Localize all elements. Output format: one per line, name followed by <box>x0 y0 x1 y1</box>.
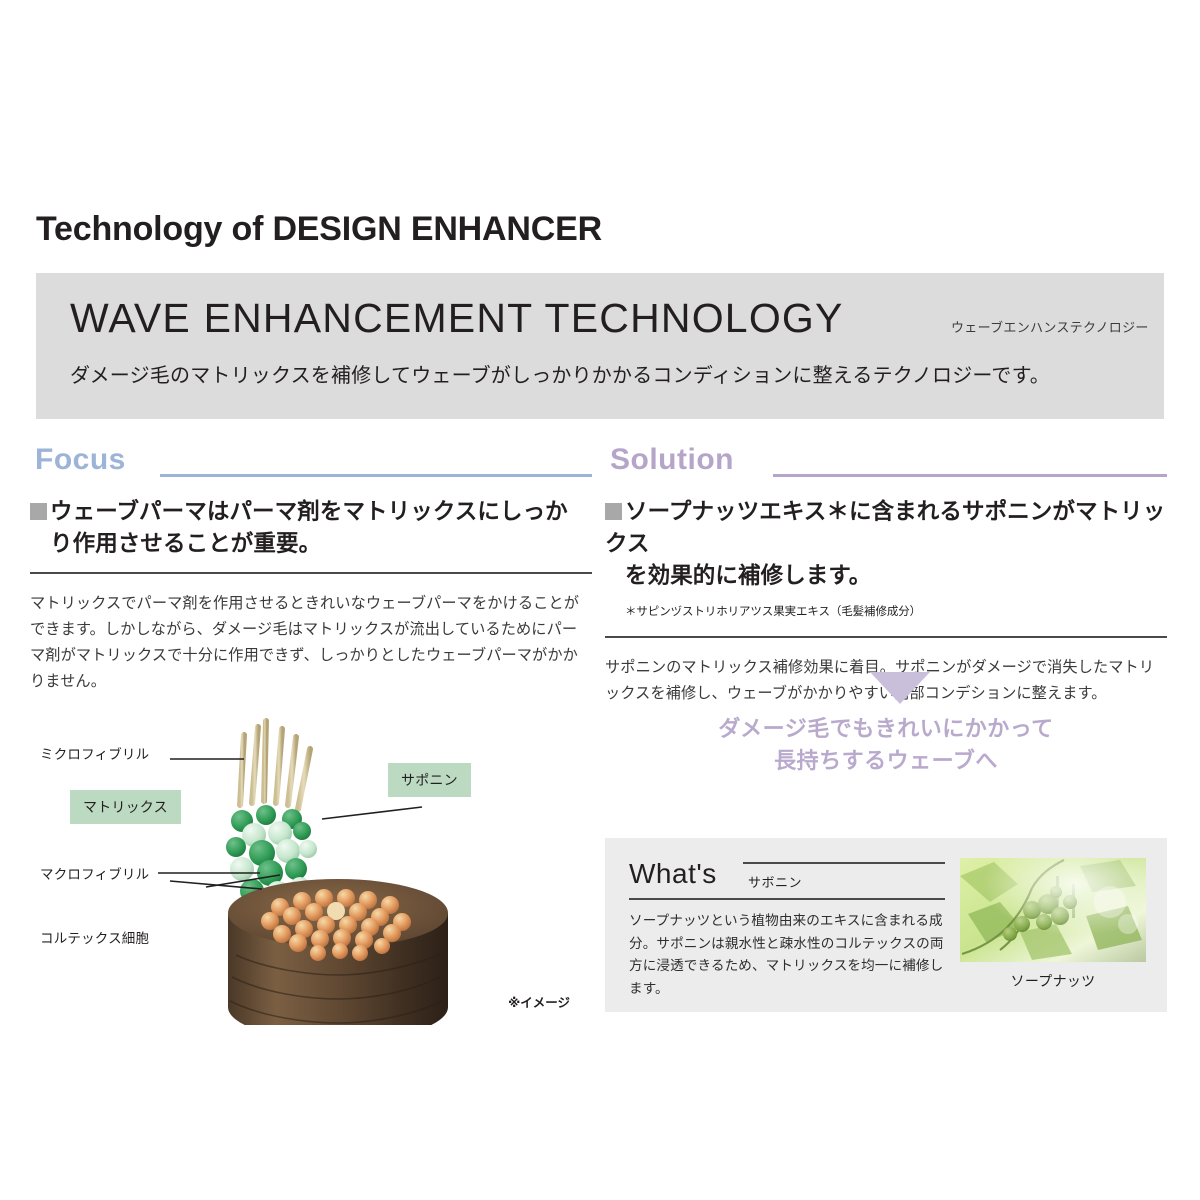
whats-rule-top <box>743 862 945 864</box>
diagram-label-microfibril: ミクロフィブリル <box>40 743 149 763</box>
solution-label: Solution <box>610 443 734 477</box>
square-bullet-icon <box>605 503 622 520</box>
triangle-down-icon <box>870 672 930 704</box>
solution-heading-text: ソープナッツエキス＊に含まれるサポニンがマトリックス を効果的に補修します。＊サ… <box>605 496 1167 624</box>
solution-section-header: Solution <box>605 443 1167 483</box>
focus-column: Focus ウェーブパーマはパーマ剤をマトリックスにしっか り作用させることが重… <box>30 443 592 695</box>
solution-heading-line2-text: を効果的に補修します。 <box>625 563 871 588</box>
soapnuts-photo-block: ソープナッツ <box>960 858 1146 991</box>
diagram-label-macrofibril: マクロフィブリル <box>40 863 149 883</box>
focus-heading: ウェーブパーマはパーマ剤をマトリックスにしっか り作用させることが重要。 <box>30 496 592 574</box>
solution-footnote: ＊サピンヅストリホリアツス果実エキス（毛髪補修成分） <box>625 606 921 618</box>
hair-structure-diagram: ミクロフィブリル マトリックス サポニン マクロフィブリル コルテックス細胞 ※… <box>30 715 590 1025</box>
focus-divider <box>30 572 592 574</box>
technology-page: Technology of DESIGN ENHANCER WAVE ENHAN… <box>0 0 1200 1200</box>
solution-heading: ソープナッツエキス＊に含まれるサポニンがマトリックス を効果的に補修します。＊サ… <box>605 496 1167 638</box>
technology-banner: WAVE ENHANCEMENT TECHNOLOGY ウェーブエンハンステクノ… <box>36 273 1164 419</box>
focus-heading-line1: ウェーブパーマはパーマ剤をマトリックスにしっか <box>50 499 568 524</box>
soapnuts-photo-caption: ソープナッツ <box>960 971 1146 991</box>
banner-subtitle-kana: ウェーブエンハンステクノロジー <box>951 317 1149 336</box>
diagram-image-note: ※イメージ <box>508 992 570 1011</box>
conclusion-line2: 長持ちするウェーブへ <box>605 745 1167 777</box>
whats-body-text: ソープナッツという植物由来のエキスに含まれる成分。サポニンは親水性と疎水性のコル… <box>629 910 947 1000</box>
soapnuts-photo <box>960 858 1146 962</box>
focus-label: Focus <box>35 443 126 477</box>
solution-heading-line2: を効果的に補修します。＊サピンヅストリホリアツス果実エキス（毛髪補修成分） <box>605 560 1167 624</box>
whats-rule-bottom <box>629 898 945 900</box>
focus-body-text: マトリックスでパーマ剤を作用させるときれいなウェーブパーマをかけることができます… <box>30 591 592 696</box>
focus-heading-text: ウェーブパーマはパーマ剤をマトリックスにしっか り作用させることが重要。 <box>30 496 592 560</box>
diagram-label-cortex-cell: コルテックス細胞 <box>40 927 149 947</box>
focus-section-header: Focus <box>30 443 592 483</box>
whats-title: What's <box>629 858 717 890</box>
solution-column: Solution ソープナッツエキス＊に含まれるサポニンがマトリックス を効果的… <box>605 443 1167 707</box>
whats-kana-label: サボニン <box>748 872 802 891</box>
focus-rule <box>160 474 592 477</box>
solution-rule <box>773 474 1167 477</box>
square-bullet-icon <box>30 503 47 520</box>
diagram-label-matrix: マトリックス <box>70 790 181 824</box>
conclusion-line1: ダメージ毛でもきれいにかかって <box>605 713 1167 745</box>
banner-title: WAVE ENHANCEMENT TECHNOLOGY <box>70 295 844 342</box>
solution-divider <box>605 636 1167 638</box>
banner-lead-text: ダメージ毛のマトリックスを補修してウェーブがしっかりかかるコンディションに整える… <box>70 359 1050 388</box>
solution-heading-line1: ソープナッツエキス＊に含まれるサポニンがマトリックス <box>605 499 1165 556</box>
page-title: Technology of DESIGN ENHANCER <box>36 210 602 249</box>
diagram-label-saponin: サポニン <box>388 763 471 797</box>
whats-callout-box: What's サボニン ソープナッツという植物由来のエキスに含まれる成分。サポニ… <box>605 838 1167 1012</box>
solution-conclusion: ダメージ毛でもきれいにかかって 長持ちするウェーブへ <box>605 713 1167 777</box>
focus-heading-line2: り作用させることが重要。 <box>30 528 592 560</box>
